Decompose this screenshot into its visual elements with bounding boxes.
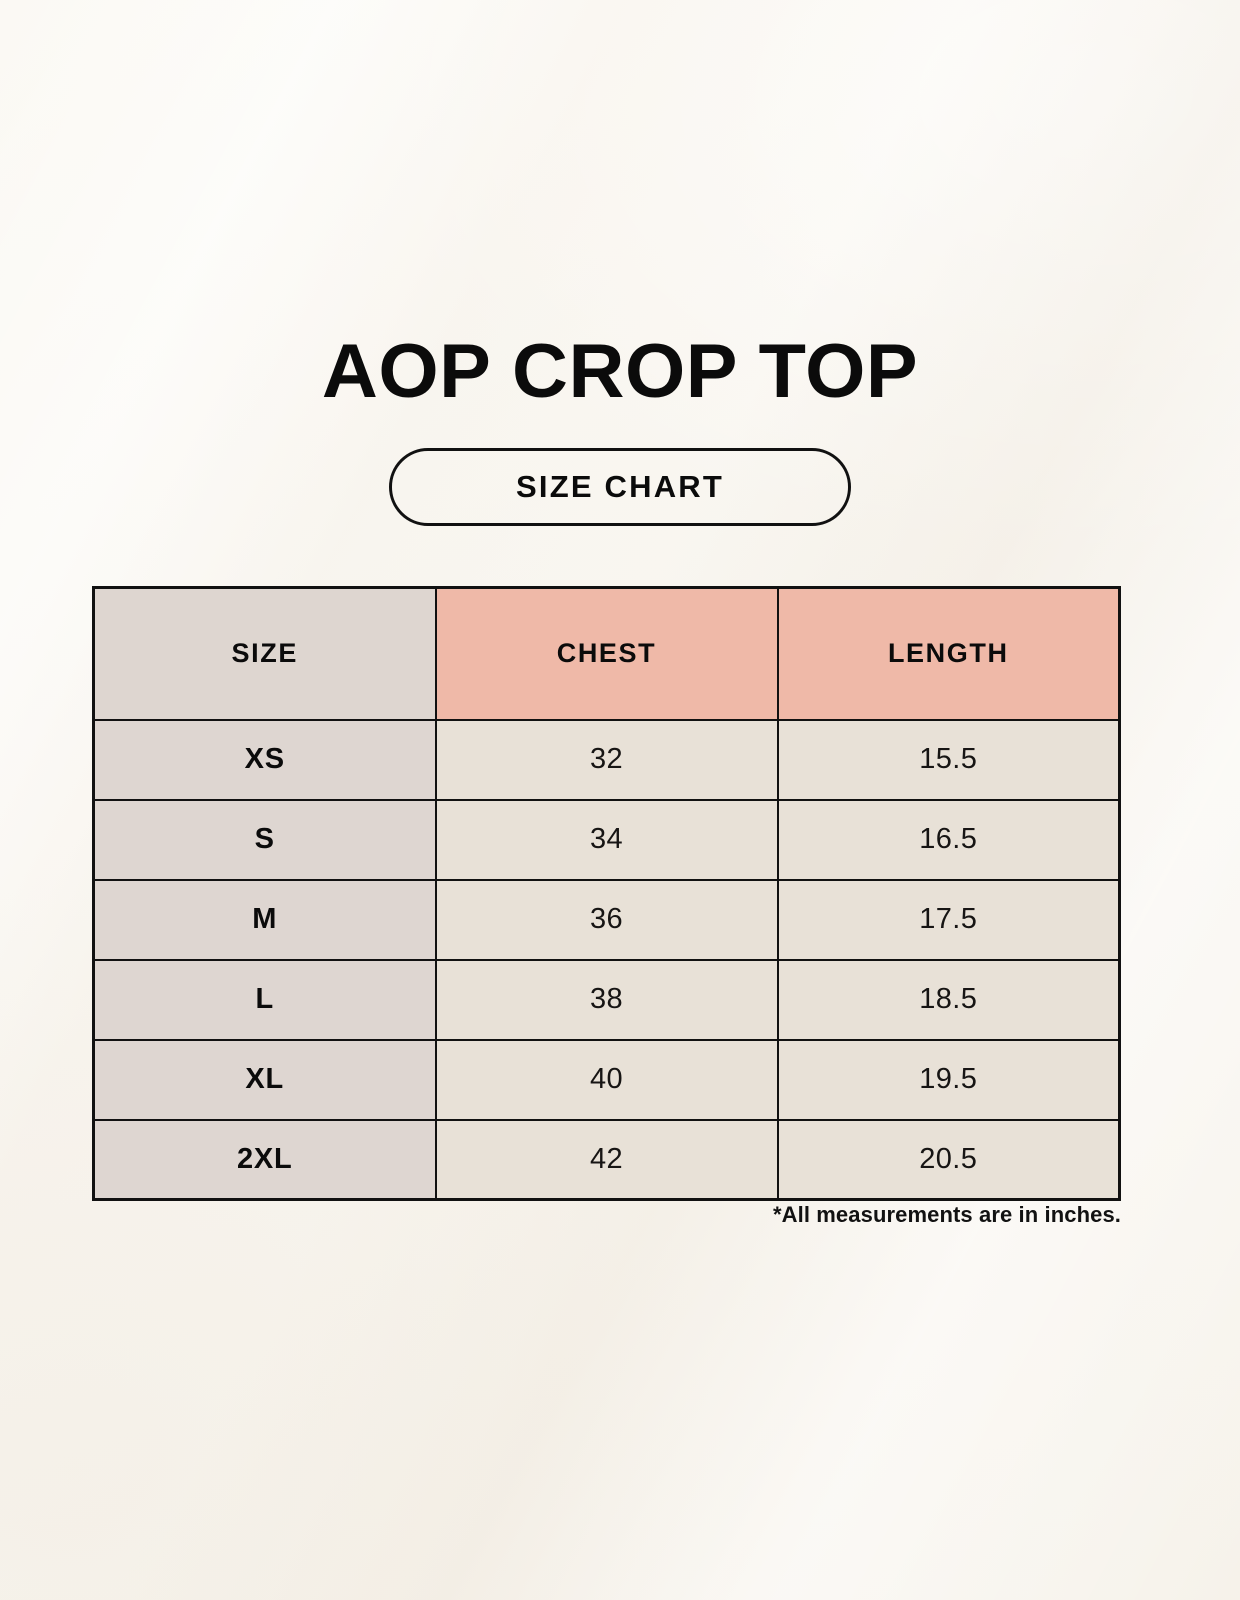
size-table: SIZE CHEST LENGTH XS 32 15.5 S 34 16.5 M	[92, 586, 1121, 1201]
cell-length: 17.5	[778, 880, 1120, 960]
size-table-container: SIZE CHEST LENGTH XS 32 15.5 S 34 16.5 M	[92, 586, 1121, 1201]
table-row: M 36 17.5	[94, 880, 1120, 960]
cell-size: XS	[94, 720, 436, 800]
cell-size: 2XL	[94, 1120, 436, 1200]
column-header-length: LENGTH	[778, 588, 1120, 720]
header: AOP CROP TOP SIZE CHART	[0, 334, 1240, 526]
measurement-footnote: *All measurements are in inches.	[92, 1202, 1121, 1228]
table-row: L 38 18.5	[94, 960, 1120, 1040]
page-title: AOP CROP TOP	[0, 334, 1240, 410]
table-row: S 34 16.5	[94, 800, 1120, 880]
table-row: XS 32 15.5	[94, 720, 1120, 800]
table-row: 2XL 42 20.5	[94, 1120, 1120, 1200]
cell-size: L	[94, 960, 436, 1040]
cell-chest: 38	[436, 960, 778, 1040]
cell-length: 19.5	[778, 1040, 1120, 1120]
table-body: XS 32 15.5 S 34 16.5 M 36 17.5 L 38	[94, 720, 1120, 1200]
table-row: XL 40 19.5	[94, 1040, 1120, 1120]
size-chart-page: AOP CROP TOP SIZE CHART SIZE CHEST LENGT…	[0, 0, 1240, 1600]
cell-chest: 40	[436, 1040, 778, 1120]
cell-chest: 36	[436, 880, 778, 960]
cell-length: 15.5	[778, 720, 1120, 800]
cell-length: 18.5	[778, 960, 1120, 1040]
column-header-size: SIZE	[94, 588, 436, 720]
cell-size: M	[94, 880, 436, 960]
cell-chest: 34	[436, 800, 778, 880]
cell-chest: 42	[436, 1120, 778, 1200]
cell-length: 20.5	[778, 1120, 1120, 1200]
table-header-row: SIZE CHEST LENGTH	[94, 588, 1120, 720]
size-chart-badge: SIZE CHART	[389, 448, 851, 526]
table-head: SIZE CHEST LENGTH	[94, 588, 1120, 720]
badge-container: SIZE CHART	[0, 448, 1240, 526]
cell-size: XL	[94, 1040, 436, 1120]
cell-size: S	[94, 800, 436, 880]
cell-chest: 32	[436, 720, 778, 800]
column-header-chest: CHEST	[436, 588, 778, 720]
cell-length: 16.5	[778, 800, 1120, 880]
